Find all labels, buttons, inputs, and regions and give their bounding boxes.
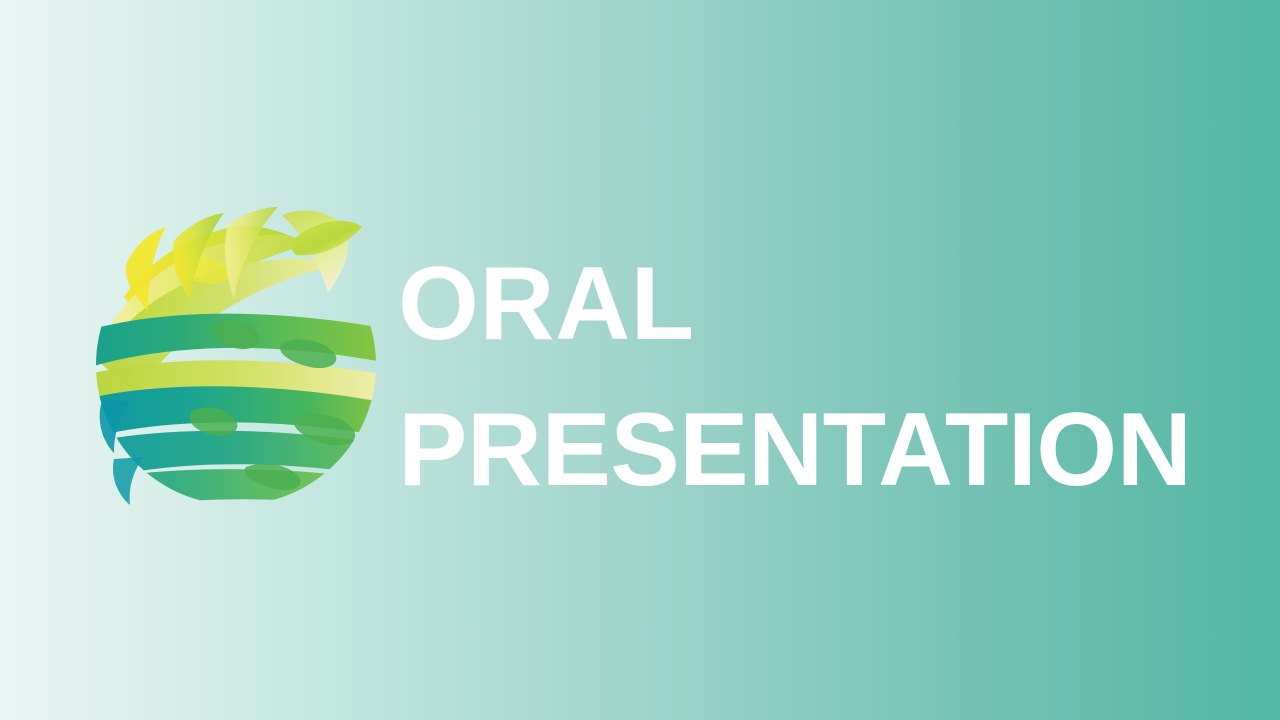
title-line-oral: ORAL	[398, 232, 1198, 378]
globe-ribbon-leaf-logo	[96, 205, 381, 517]
slide-title: ORAL PRESENTATION	[398, 232, 1198, 523]
slide-canvas: ORAL PRESENTATION	[0, 0, 1280, 720]
title-line-presentation: PRESENTATION	[398, 378, 1198, 524]
